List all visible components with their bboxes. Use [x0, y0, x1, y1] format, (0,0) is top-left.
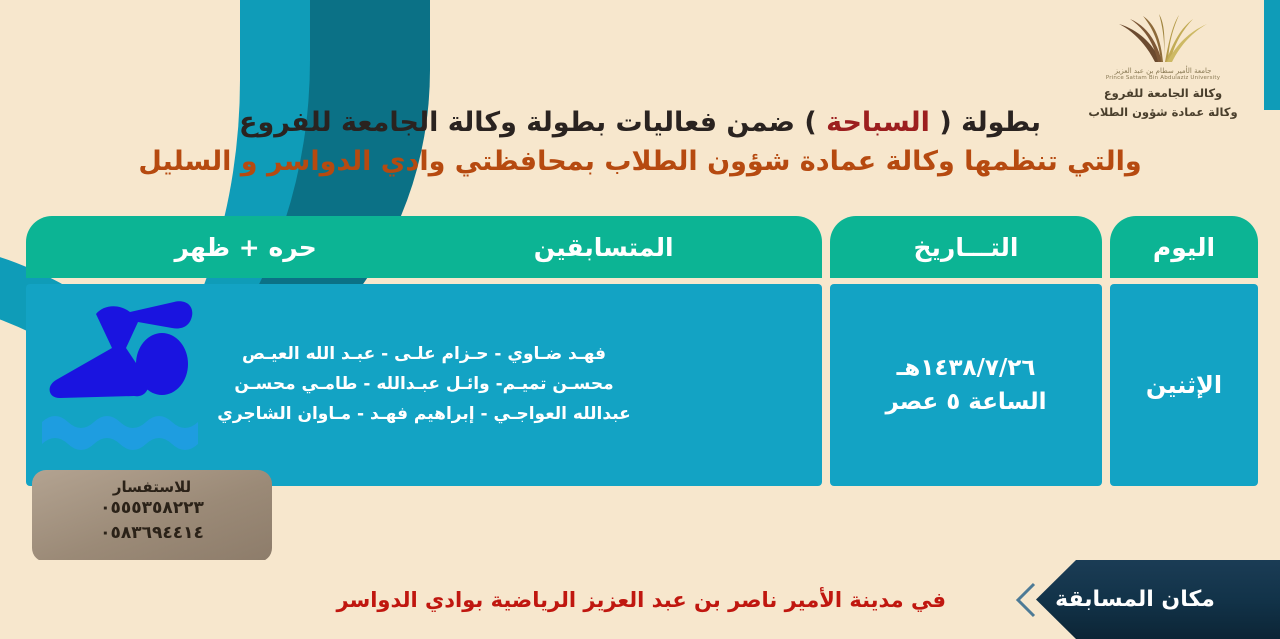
- cell-date: ١٤٣٨/٧/٢٦هـ الساعة ٥ عصر: [830, 284, 1102, 486]
- venue-text: في مدينة الأمير ناصر بن عبد العزيز الريا…: [80, 560, 970, 639]
- column-day: اليوم الإثنين: [1110, 216, 1258, 486]
- contact-phone[interactable]: ٠٥٥٥٣٥٨٢٢٣: [32, 496, 272, 521]
- contact-bubble: للاستفسار ٠٥٥٥٣٥٨٢٢٣ ٠٥٨٣٦٩٤٤١٤: [32, 470, 272, 562]
- header-day: اليوم: [1110, 216, 1258, 278]
- header-date: التـــاريخ: [830, 216, 1102, 278]
- contact-title: للاستفسار: [32, 478, 272, 496]
- bottom-bar: في مدينة الأمير ناصر بن عبد العزيز الريا…: [0, 560, 1280, 639]
- poster-canvas: جامعة الأمير سطام بن عبد العزيز Prince S…: [0, 0, 1280, 639]
- header-stroke: حره + ظهر: [174, 233, 316, 262]
- headline-block: بطولة ( السباحة ) ضمن فعاليات بطولة وكال…: [0, 106, 1280, 179]
- headline-prefix: بطولة (: [930, 107, 1041, 138]
- competitors-list: فهـد ضـاوي - حـزام علـى - عبـد الله العي…: [217, 340, 631, 429]
- logo-name-english: Prince Sattam Bin Abdulaziz University: [1068, 75, 1258, 82]
- column-date: التـــاريخ ١٤٣٨/٧/٢٦هـ الساعة ٥ عصر: [830, 216, 1102, 486]
- logo-branch-line1: وكالة الجامعة للفروع: [1068, 86, 1258, 102]
- headline-line-2: والتي تنظمها وكالة عمادة شؤون الطلاب بمح…: [0, 144, 1280, 179]
- university-logo: جامعة الأمير سطام بن عبد العزيز Prince S…: [1068, 14, 1258, 121]
- competitor-line: فهـد ضـاوي - حـزام علـى - عبـد الله العي…: [217, 340, 631, 370]
- headline-highlight: السباحة: [826, 107, 930, 138]
- chevron-left-icon: [1014, 582, 1036, 618]
- cell-time-value: الساعة ٥ عصر: [886, 385, 1047, 420]
- headline-line-1: بطولة ( السباحة ) ضمن فعاليات بطولة وكال…: [0, 106, 1280, 140]
- headline-suffix: ) ضمن فعاليات بطولة وكالة الجامعة للفروع: [239, 107, 826, 138]
- open-book-icon: [1103, 14, 1223, 66]
- decor-right-strip: [1264, 0, 1280, 110]
- contact-phone[interactable]: ٠٥٨٣٦٩٤٤١٤: [32, 521, 272, 546]
- logo-name-arabic: جامعة الأمير سطام بن عبد العزيز: [1068, 67, 1258, 75]
- competitor-line: محسـن تميـم- وائـل عبـدالله - طامـي محسـ…: [217, 370, 631, 400]
- header-competitors-row: المتسابقين حره + ظهر: [26, 216, 822, 278]
- cell-day: الإثنين: [1110, 284, 1258, 486]
- header-competitors: المتسابقين: [534, 233, 674, 262]
- cell-date-value: ١٤٣٨/٧/٢٦هـ: [886, 351, 1047, 386]
- competitor-line: عبدالله العواجـي - إبراهيم فهـد - مـاوان…: [217, 400, 631, 430]
- swimmer-icon: [34, 286, 224, 456]
